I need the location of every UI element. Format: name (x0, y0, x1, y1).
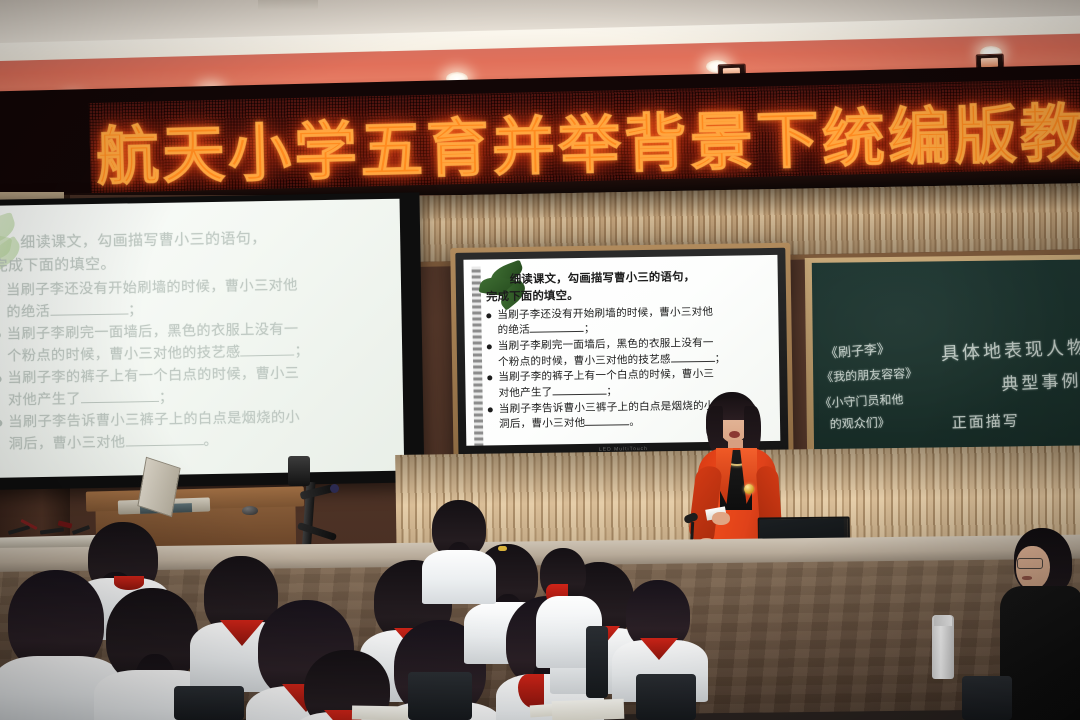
document-camera-knob[interactable] (330, 484, 339, 493)
blackboard: 《刷子李》 《我的朋友容容》 《小守门员和他 的观众们》 具体地表现人物 典型事… (805, 254, 1080, 468)
thermos-bottle[interactable] (932, 615, 954, 679)
observer-black-clothing (1000, 586, 1080, 720)
projected-heading-line1: 细读课文，勾画描写曹小三的语句， (20, 229, 267, 251)
chalk-text-book-3: 《小守门员和他 (819, 390, 904, 411)
ceiling-vent (258, 0, 318, 10)
gold-badge-pin (744, 484, 754, 494)
teacher-mouth-speaking (729, 431, 740, 438)
teacher-hand-right (712, 512, 730, 525)
chalk-text-book-4: 的观众们》 (829, 413, 889, 432)
hair-tie (498, 546, 507, 551)
slide-heading-line1: 细读课文，勾画描写曹小三的语句， (510, 269, 696, 286)
student-uniform-shirt (422, 550, 496, 604)
slide-bullet: 当刷子李刷完一面墙后，黑色的衣服上没有一 个粉点的时候，曹小三对他的技艺感； (487, 335, 777, 371)
projection-screen: 细读课文，勾画描写曹小三的语句， 完成下面的填空。 当刷子李还没有开始刷墙的时候… (0, 192, 424, 490)
projected-bullet: 当刷子李还没有开始刷墙的时候，曹小三对他 的绝活； (0, 274, 392, 324)
projected-bullet: 当刷子李的裤子上有一个白点的时候，曹小三 对他产生了； (0, 362, 393, 412)
chair-back (174, 686, 244, 720)
document-camera-head (288, 456, 310, 486)
chair-back (408, 672, 472, 720)
chair-back (586, 626, 608, 698)
equipment-cables (6, 520, 92, 538)
projection-surface: 细读课文，勾画描写曹小三的语句， 完成下面的填空。 当刷子李还没有开始刷墙的时候… (0, 199, 404, 478)
chair-back (962, 676, 1012, 720)
chalk-text-book-2: 《我的朋友容容》 (821, 364, 918, 386)
chalk-text-point-2: 典型事例 (1001, 366, 1080, 395)
projected-bullet: 当刷子李告诉曹小三裤子上的白点是烟烧的小 洞后，曹小三对他。 (0, 406, 394, 456)
classroom-photo-scene: 航天小学五育并举背景下统编版教材习作 《刷子李》 《我的朋友容容》 《小守门员和… (0, 0, 1080, 720)
adult-observer (1000, 528, 1080, 720)
teacher-hair-side-left (707, 406, 723, 452)
eyeglasses-icon (1017, 558, 1043, 569)
chalk-text-point-1: 具体地表现人物 (940, 333, 1080, 366)
projected-slide-content: 细读课文，勾画描写曹小三的语句， 完成下面的填空。 当刷子李还没有开始刷墙的时候… (0, 225, 394, 458)
slide-bullet: 当刷子李还没有开始刷墙的时候，曹小三对他 的绝活； (486, 304, 776, 340)
observer-mouth (1022, 576, 1032, 580)
red-neckerchief (114, 576, 144, 590)
slide-heading-line2: 完成下面的填空。 (486, 288, 579, 303)
chalk-text-point-3: 正面描写 (951, 410, 1020, 433)
computer-mouse[interactable] (242, 506, 258, 515)
paper-sheet (352, 706, 408, 720)
blackboard-surface: 《刷子李》 《我的朋友容容》 《小守门员和他 的观众们》 具体地表现人物 典型事… (812, 259, 1080, 461)
chair-back (636, 674, 696, 720)
paper-sheet (552, 699, 625, 720)
projected-heading-line2: 完成下面的填空。 (0, 254, 116, 274)
chalk-text-book-1: 《刷子李》 (824, 338, 890, 362)
projected-bullet: 当刷子李刷完一面墙后，黑色的衣服上没有一 个粉点的时候，曹小三对他的技艺感； (0, 318, 392, 368)
